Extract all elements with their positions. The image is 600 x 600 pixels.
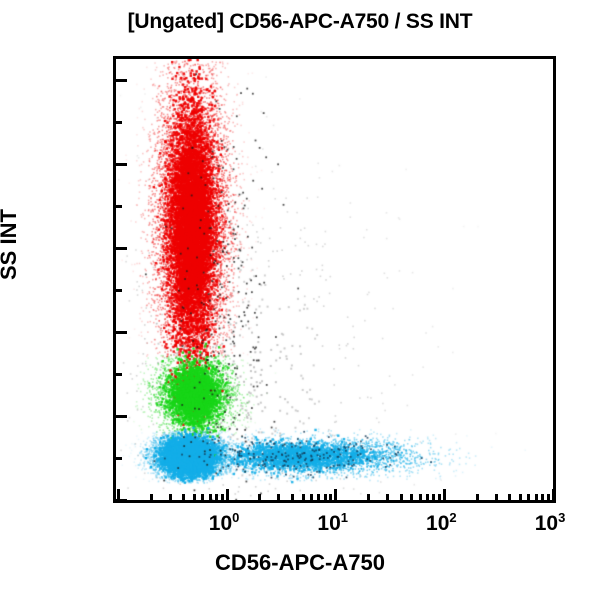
x-tick-label: 101: [317, 512, 348, 536]
x-major-tick: [117, 489, 120, 500]
x-minor-tick: [438, 494, 441, 500]
y-minor-tick: [116, 289, 122, 292]
y-major-tick: [116, 79, 127, 82]
x-major-tick: [443, 489, 446, 500]
y-major-tick: [116, 331, 127, 334]
x-minor-tick: [324, 494, 327, 500]
x-minor-tick: [291, 494, 294, 500]
x-major-tick: [226, 489, 229, 500]
y-major-tick: [116, 247, 127, 250]
x-minor-tick: [302, 494, 305, 500]
page-title: [Ungated] CD56-APC-A750 / SS INT: [0, 10, 600, 34]
x-minor-tick: [182, 494, 185, 500]
x-minor-tick: [201, 494, 204, 500]
y-axis-title: SS INT: [0, 209, 22, 280]
flow-cytometry-plot: [Ungated] CD56-APC-A750 / SS INT 0200400…: [0, 0, 600, 600]
y-minor-tick: [116, 121, 122, 124]
x-axis-title: CD56-APC-A750: [0, 550, 600, 576]
x-minor-tick: [215, 494, 218, 500]
y-minor-tick: [116, 373, 122, 376]
x-minor-tick: [410, 494, 413, 500]
x-minor-tick: [258, 494, 261, 500]
x-minor-tick: [169, 494, 172, 500]
x-minor-tick: [221, 494, 224, 500]
plot-area: [113, 56, 556, 503]
x-major-tick: [334, 489, 337, 500]
x-minor-tick: [519, 494, 522, 500]
x-minor-tick: [329, 494, 332, 500]
x-minor-tick: [541, 494, 544, 500]
x-minor-tick: [193, 494, 196, 500]
y-major-tick: [116, 415, 127, 418]
x-tick-label: 103: [535, 512, 566, 536]
x-minor-tick: [527, 494, 530, 500]
scatter-canvas: [116, 59, 553, 500]
x-minor-tick: [310, 494, 313, 500]
y-major-tick: [116, 163, 127, 166]
x-minor-tick: [476, 494, 479, 500]
x-minor-tick: [386, 494, 389, 500]
y-minor-tick: [116, 457, 122, 460]
x-minor-tick: [317, 494, 320, 500]
x-minor-tick: [547, 494, 550, 500]
x-major-tick: [552, 489, 555, 500]
x-minor-tick: [277, 494, 280, 500]
x-tick-label: 102: [426, 512, 457, 536]
x-minor-tick: [400, 494, 403, 500]
x-minor-tick: [426, 494, 429, 500]
x-minor-tick: [150, 494, 153, 500]
x-minor-tick: [367, 494, 370, 500]
y-minor-tick: [116, 205, 122, 208]
x-minor-tick: [419, 494, 422, 500]
x-minor-tick: [495, 494, 498, 500]
x-tick-label: 100: [209, 512, 240, 536]
x-minor-tick: [535, 494, 538, 500]
x-minor-tick: [432, 494, 435, 500]
x-minor-tick: [508, 494, 511, 500]
x-minor-tick: [209, 494, 212, 500]
